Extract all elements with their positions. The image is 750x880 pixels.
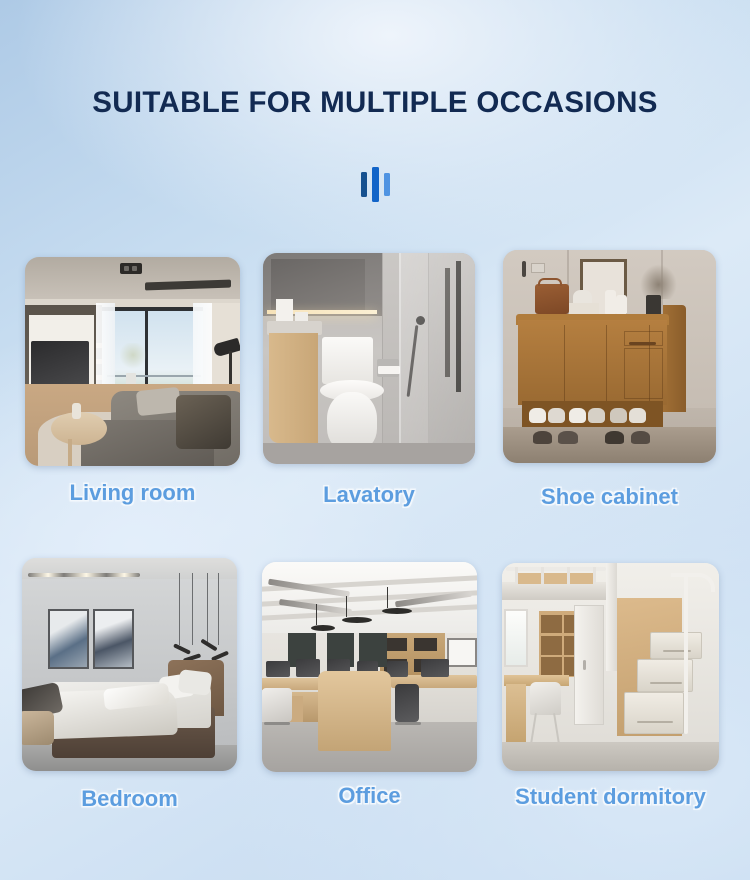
- divider-bar-middle: [372, 167, 379, 202]
- student-dormitory-photo: [502, 563, 719, 771]
- occasion-card-lavatory[interactable]: [263, 253, 475, 464]
- occasion-card-student-dormitory[interactable]: [502, 563, 719, 771]
- occasion-caption-office: Office: [262, 783, 477, 809]
- occasion-card-shoe-cabinet[interactable]: [503, 250, 716, 463]
- occasion-caption-lavatory: Lavatory: [263, 482, 475, 508]
- lavatory-photo: [263, 253, 475, 464]
- living-room-photo: [25, 257, 240, 466]
- promo-banner: SUITABLE FOR MULTIPLE OCCASIONS: [0, 0, 750, 880]
- occasion-card-office[interactable]: [262, 562, 477, 772]
- occasion-caption-bedroom: Bedroom: [22, 786, 237, 812]
- divider-bar-right: [384, 173, 390, 196]
- page-title: SUITABLE FOR MULTIPLE OCCASIONS: [0, 86, 750, 120]
- occasion-caption-shoe-cabinet: Shoe cabinet: [503, 484, 716, 510]
- occasion-card-living-room[interactable]: [25, 257, 240, 466]
- office-photo: [262, 562, 477, 772]
- occasion-caption-student-dormitory: Student dormitory: [502, 784, 719, 810]
- shoe-cabinet-photo: [503, 250, 716, 463]
- divider-bar-left: [361, 172, 367, 197]
- occasion-caption-living-room: Living room: [25, 480, 240, 506]
- bedroom-photo: [22, 558, 237, 771]
- occasion-card-bedroom[interactable]: [22, 558, 237, 771]
- three-bar-divider: [0, 164, 750, 204]
